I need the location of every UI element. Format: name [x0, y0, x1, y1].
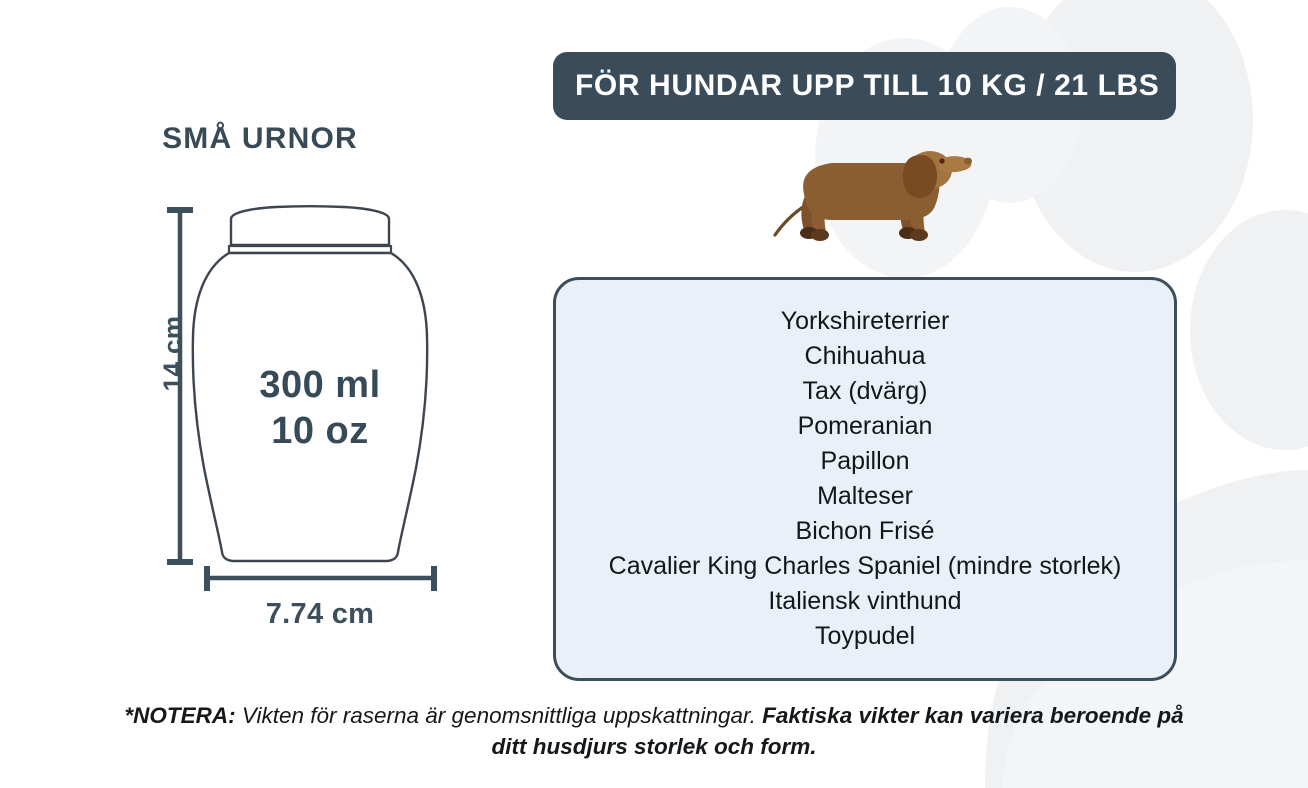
urn-volume-label: 300 ml 10 oz	[200, 362, 440, 454]
dachshund-illustration	[762, 132, 982, 257]
list-item: Italiensk vinthund	[556, 584, 1174, 619]
urn-volume-ml: 300 ml	[200, 362, 440, 408]
urn-volume-oz: 10 oz	[200, 408, 440, 454]
paw-toe-shape-1	[1017, 0, 1253, 272]
dog-paw-front-2	[910, 229, 928, 241]
urn-lid	[231, 206, 389, 245]
list-item: Cavalier King Charles Spaniel (mindre st…	[556, 549, 1174, 584]
breed-list: Yorkshireterrier Chihuahua Tax (dvärg) P…	[556, 304, 1174, 654]
urn-width-label: 7.74 cm	[180, 598, 460, 631]
weight-range-banner-text: FÖR HUNDAR UPP TILL 10 KG / 21 LBS	[553, 69, 1159, 103]
list-item: Pomeranian	[556, 409, 1174, 444]
dog-eye	[939, 158, 944, 163]
footnote: *NOTERA: Vikten för raserna är genomsnit…	[104, 700, 1204, 762]
dachshund-icon	[762, 132, 982, 257]
list-item: Bichon Frisé	[556, 514, 1174, 549]
list-item: Toypudel	[556, 619, 1174, 654]
list-item: Tax (dvärg)	[556, 374, 1174, 409]
weight-range-banner: FÖR HUNDAR UPP TILL 10 KG / 21 LBS	[553, 52, 1176, 120]
dog-nose	[964, 158, 972, 165]
dog-paw-rear-2	[811, 229, 829, 241]
urn-drawing	[0, 0, 520, 680]
breed-list-box: Yorkshireterrier Chihuahua Tax (dvärg) P…	[553, 277, 1177, 681]
dog-ear	[903, 155, 937, 198]
width-dimension-line	[207, 566, 434, 591]
list-item: Malteser	[556, 479, 1174, 514]
footnote-regular-text: Vikten för raserna är genomsnittliga upp…	[236, 703, 763, 728]
footnote-label: *NOTERA:	[124, 703, 235, 728]
list-item: Papillon	[556, 444, 1174, 479]
list-item: Chihuahua	[556, 339, 1174, 374]
paw-toe-shape-4	[1190, 210, 1308, 450]
urn-diagram-panel: SMÅ URNOR 14 cm 300 ml 1	[0, 0, 520, 680]
urn-height-label: 14 cm	[158, 299, 189, 409]
infographic-page: SMÅ URNOR 14 cm 300 ml 1	[0, 0, 1308, 788]
list-item: Yorkshireterrier	[556, 304, 1174, 339]
